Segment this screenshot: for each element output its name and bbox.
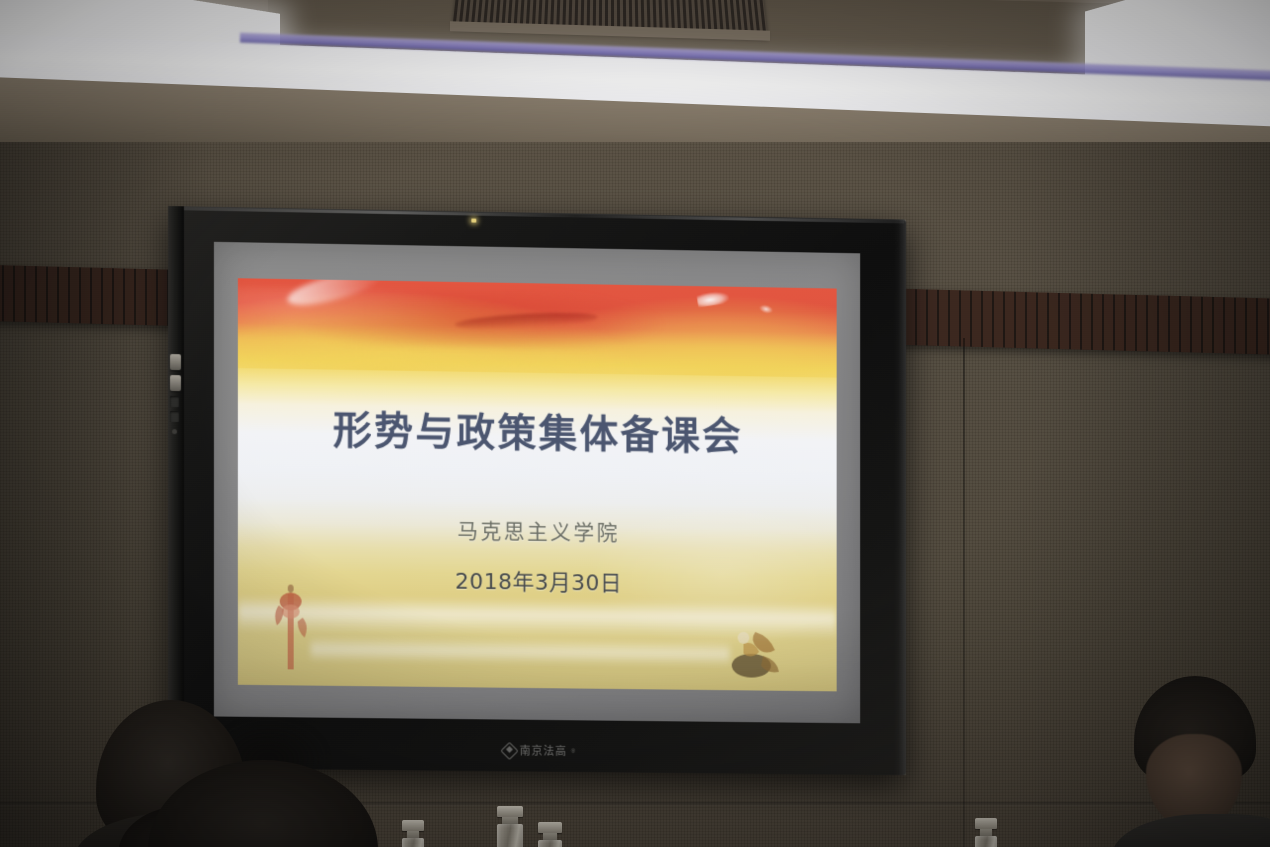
presentation-slide[interactable]: 形势与政策集体备课会 马克思主义学院 2018年3月30日	[238, 278, 837, 691]
water-bottle-3	[538, 822, 562, 847]
bottle-neck	[407, 831, 420, 838]
diamond-logo-icon	[500, 742, 518, 760]
bottle-neck	[543, 833, 557, 840]
display-button-1[interactable]	[170, 354, 181, 370]
slide-date: 2018年3月30日	[238, 561, 837, 600]
screen-surface[interactable]: 形势与政策集体备课会 马克思主义学院 2018年3月30日	[214, 242, 860, 723]
bottle-neck	[980, 829, 993, 836]
bezel-left-edge	[168, 206, 184, 768]
slide-subtitle: 马克思主义学院	[238, 512, 837, 550]
bottle-body	[975, 836, 997, 847]
wall-seam-right	[963, 338, 965, 847]
slide-title: 形势与政策集体备课会	[238, 398, 837, 463]
bottle-body	[497, 824, 523, 847]
bottle-neck	[502, 817, 517, 824]
display-port-2[interactable]	[170, 411, 179, 422]
bottle-cap	[402, 820, 424, 831]
display-port-1[interactable]	[170, 396, 179, 407]
bezel-right-sheen	[893, 219, 906, 775]
display-side-controls[interactable]	[170, 354, 182, 434]
registered-mark: ®	[571, 749, 575, 755]
hair	[148, 760, 378, 847]
power-led-icon	[471, 219, 476, 223]
display-button-2[interactable]	[170, 375, 181, 391]
wall-display[interactable]: 形势与政策集体备课会 马克思主义学院 2018年3月30日 南京法高 ®	[168, 206, 906, 775]
bottle-cap	[975, 818, 997, 829]
brand-name: 南京法高	[520, 746, 567, 757]
bottle-body	[538, 840, 562, 847]
water-bottle-4	[975, 818, 997, 847]
display-sensor-icon	[172, 429, 177, 434]
haze-band-lower	[310, 637, 729, 666]
water-bottle-2	[497, 806, 523, 847]
bottle-cap	[538, 822, 562, 833]
golden-ornament-icon	[730, 622, 785, 680]
conference-room-scene: 形势与政策集体备课会 马克思主义学院 2018年3月30日 南京法高 ®	[0, 0, 1270, 847]
attendee-looking-down-right	[1128, 676, 1264, 847]
shoulder	[1112, 814, 1270, 847]
attendee-back-of-head-center-left	[148, 760, 378, 847]
bottle-cap	[497, 806, 523, 817]
water-bottle-1	[402, 820, 424, 847]
ceiling	[0, 0, 1270, 152]
bottle-body	[402, 838, 424, 847]
